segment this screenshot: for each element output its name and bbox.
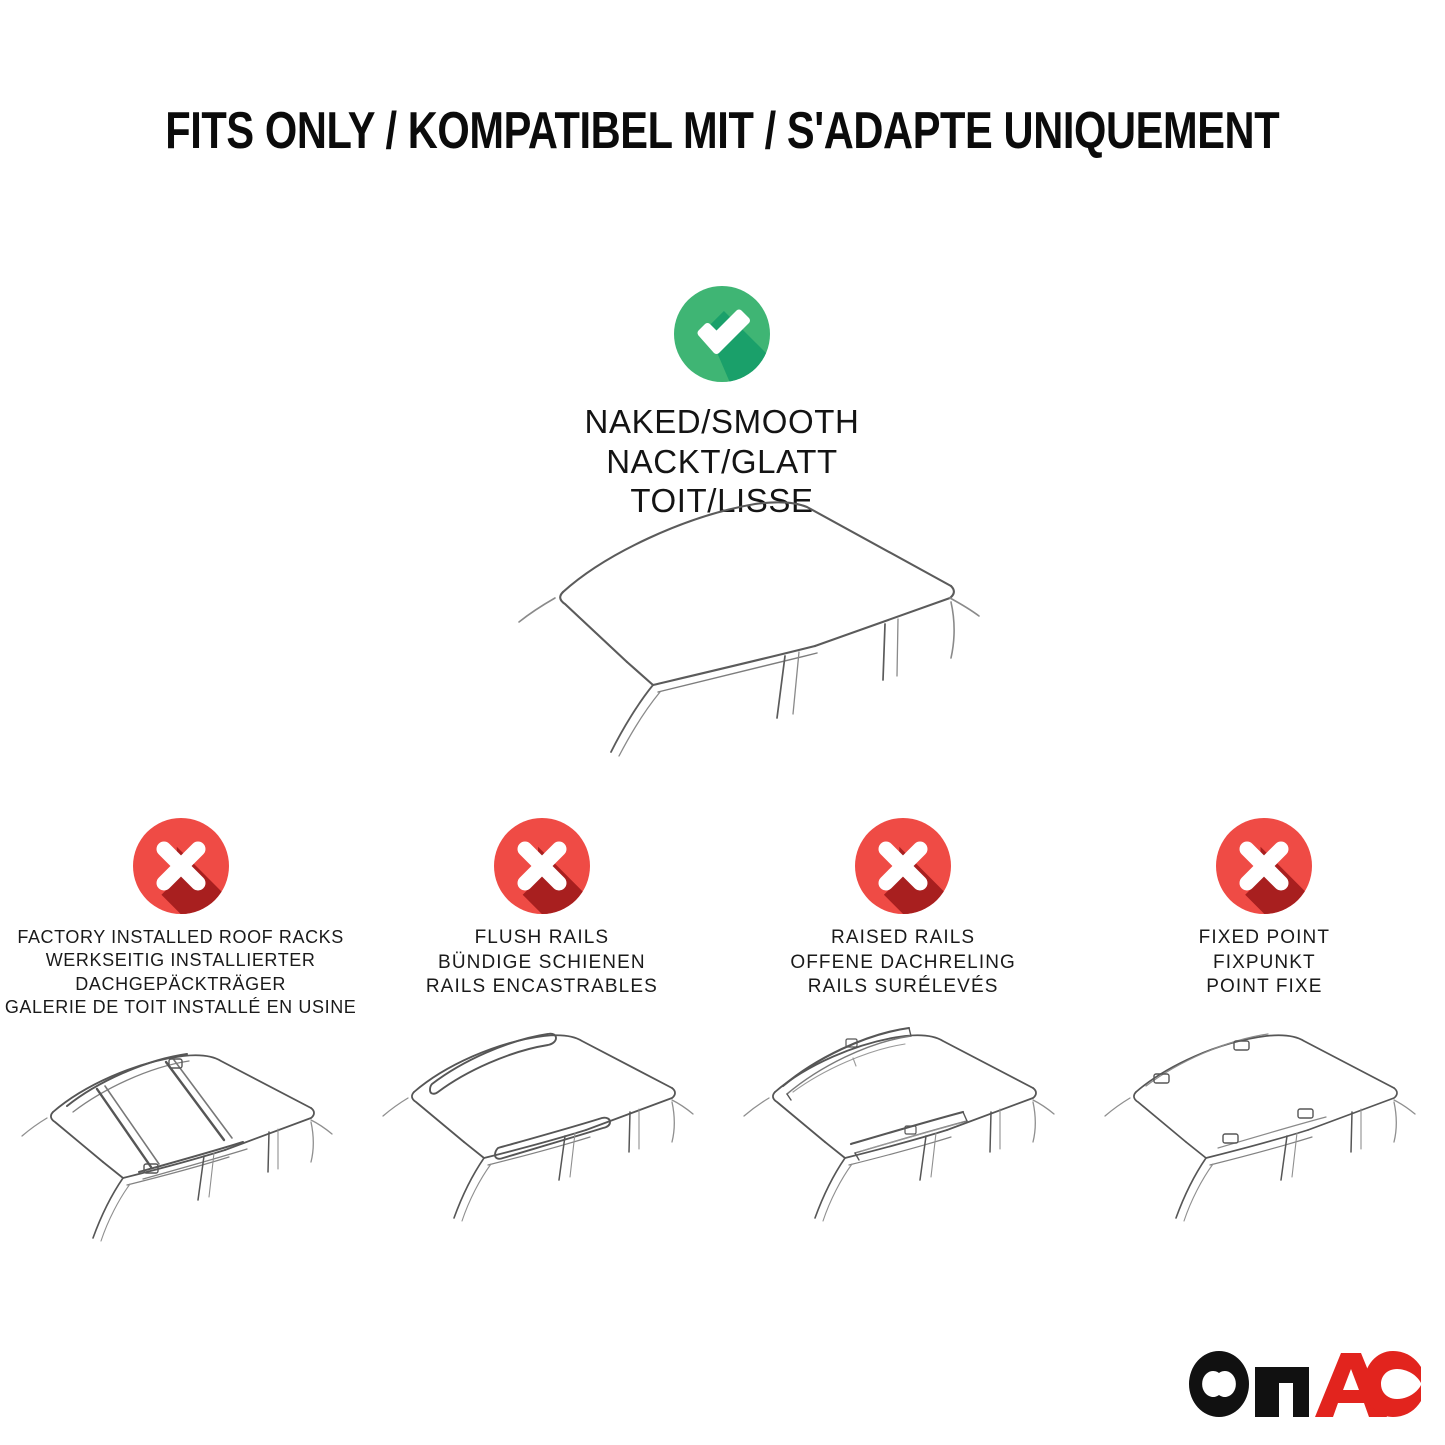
x-mark-glyph bbox=[1216, 818, 1312, 914]
incompatible-item-raised-rails: RAISED RAILS OFFENE DACHRELING RAILS SUR… bbox=[723, 818, 1084, 1288]
page-title-text: FITS ONLY / KOMPATIBEL MIT / S'ADAPTE UN… bbox=[166, 101, 1280, 161]
item-label-de: OFFENE DACHRELING bbox=[790, 951, 1016, 976]
item-label-en: FIXED POINT bbox=[1199, 926, 1330, 951]
omac-logo bbox=[1183, 1345, 1423, 1423]
bare-car-roof-drawing bbox=[455, 480, 1015, 760]
item-label-fr: GALERIE DE TOIT INSTALLÉ EN USINE bbox=[5, 996, 357, 1019]
incompatible-item-factory-installed-roof-racks: FACTORY INSTALLED ROOF RACKS WERKSEITIG … bbox=[0, 818, 361, 1288]
logo-letter-o bbox=[1189, 1351, 1249, 1417]
item-labels: FIXED POINT FIXPUNKT POINT FIXE bbox=[1199, 926, 1330, 1000]
item-label-fr: POINT FIXE bbox=[1199, 975, 1330, 1000]
roof-with-flush-rails-drawing bbox=[372, 1014, 712, 1229]
compatibility-infographic: FITS ONLY / KOMPATIBEL MIT / S'ADAPTE UN… bbox=[0, 0, 1445, 1445]
item-label-de-1: WERKSEITIG INSTALLIERTER bbox=[5, 949, 357, 972]
compatible-label-de: NACKT/GLATT bbox=[585, 442, 860, 482]
red-x-circle-icon bbox=[494, 818, 590, 914]
item-labels: FLUSH RAILS BÜNDIGE SCHIENEN RAILS ENCAS… bbox=[426, 926, 658, 1000]
item-label-en: FLUSH RAILS bbox=[426, 926, 658, 951]
incompatible-sections: FACTORY INSTALLED ROOF RACKS WERKSEITIG … bbox=[0, 818, 1445, 1288]
incompatible-item-flush-rails: FLUSH RAILS BÜNDIGE SCHIENEN RAILS ENCAS… bbox=[361, 818, 722, 1288]
roof-with-fixed-points-drawing bbox=[1094, 1014, 1434, 1229]
item-label-en: FACTORY INSTALLED ROOF RACKS bbox=[5, 926, 357, 949]
logo-letter-c bbox=[1364, 1351, 1421, 1417]
item-labels: FACTORY INSTALLED ROOF RACKS WERKSEITIG … bbox=[5, 926, 357, 1020]
logo-letter-m-solid bbox=[1255, 1367, 1309, 1417]
item-label-de: BÜNDIGE SCHIENEN bbox=[426, 951, 658, 976]
x-mark-glyph bbox=[855, 818, 951, 914]
roof-with-factory-rack-crossbars-drawing bbox=[11, 1034, 351, 1249]
item-label-de-2: DACHGEPÄCKTRÄGER bbox=[5, 973, 357, 996]
item-labels: RAISED RAILS OFFENE DACHRELING RAILS SUR… bbox=[790, 926, 1016, 1000]
x-mark-glyph bbox=[494, 818, 590, 914]
roof-with-raised-rails-drawing bbox=[733, 1014, 1073, 1229]
item-label-fr: RAILS SURÉLEVÉS bbox=[790, 975, 1016, 1000]
x-mark-glyph bbox=[133, 818, 229, 914]
incompatible-item-fixed-point: FIXED POINT FIXPUNKT POINT FIXE bbox=[1084, 818, 1445, 1288]
item-label-en: RAISED RAILS bbox=[790, 926, 1016, 951]
item-label-fr: RAILS ENCASTRABLES bbox=[426, 975, 658, 1000]
compatible-label-en: NAKED/SMOOTH bbox=[585, 402, 860, 442]
red-x-circle-icon bbox=[1216, 818, 1312, 914]
red-x-circle-icon bbox=[133, 818, 229, 914]
red-x-circle-icon bbox=[855, 818, 951, 914]
green-check-circle-icon bbox=[674, 286, 770, 382]
page-title: FITS ONLY / KOMPATIBEL MIT / S'ADAPTE UN… bbox=[0, 96, 1445, 166]
check-mark-glyph bbox=[674, 286, 770, 382]
item-label-de: FIXPUNKT bbox=[1199, 951, 1330, 976]
